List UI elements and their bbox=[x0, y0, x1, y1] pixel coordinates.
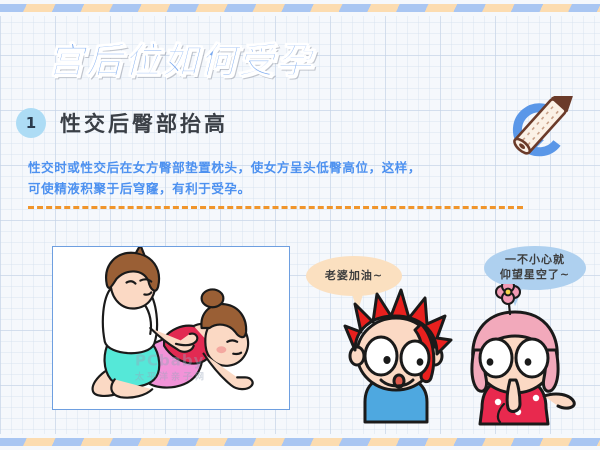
dashed-divider bbox=[28, 206, 523, 209]
top-striped-border bbox=[0, 0, 600, 16]
page-title: 宫后位如何受孕 bbox=[48, 44, 314, 80]
illustration-svg bbox=[53, 247, 289, 409]
infographic-page: 宫后位如何受孕 1 性交后臀部抬高 性交时或性交后在女方臀部垫置枕头，使女方呈头… bbox=[0, 0, 600, 450]
body-paragraph: 性交时或性交后在女方臀部垫置枕头，使女方呈头低臀高位，这样， 可使精液积聚于后穹… bbox=[28, 158, 528, 199]
speech-bubble-right-text: 一不小心就 仰望星空了~ bbox=[500, 253, 570, 283]
step-heading-text: 性交后臀部抬高 bbox=[60, 108, 228, 138]
speech-bubble-right-line2: 仰望星空了~ bbox=[500, 268, 570, 281]
speech-bubble-left-text: 老婆加油~ bbox=[325, 269, 383, 284]
bottom-striped-border bbox=[0, 434, 600, 450]
page-title-wrap: 宫后位如何受孕 bbox=[48, 44, 314, 80]
pencil-refresh-icon bbox=[500, 96, 576, 166]
cartoon-girl-svg bbox=[452, 284, 580, 426]
step-number-badge: 1 bbox=[16, 108, 46, 138]
cartoon-girl bbox=[452, 284, 580, 426]
cartoon-boy-svg bbox=[333, 284, 461, 424]
illustration-frame: PCbaby 太平洋亲子网 bbox=[52, 246, 290, 410]
step-heading-row: 1 性交后臀部抬高 bbox=[16, 108, 228, 138]
body-line-1: 性交时或性交后在女方臀部垫置枕头，使女方呈头低臀高位，这样， bbox=[28, 158, 528, 179]
pencil-refresh-svg bbox=[500, 96, 576, 166]
cartoon-boy bbox=[333, 284, 461, 424]
speech-bubble-right-line1: 一不小心就 bbox=[505, 253, 565, 266]
body-line-2: 可使精液积聚于后穹窿，有利于受孕。 bbox=[28, 179, 528, 200]
